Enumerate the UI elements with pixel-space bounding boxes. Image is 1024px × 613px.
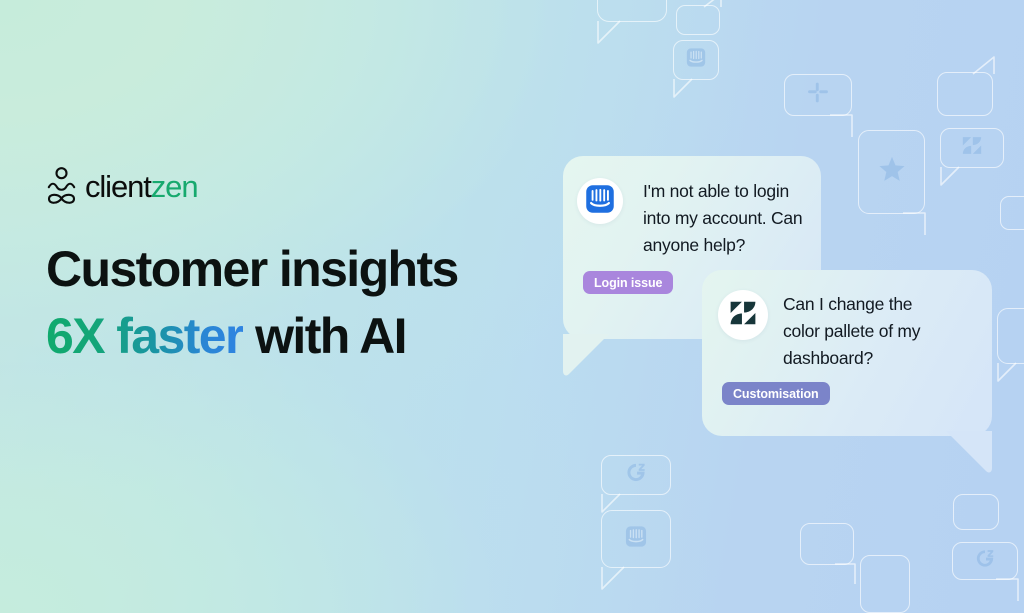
slack-icon [807, 82, 829, 109]
message-card-tail [563, 334, 621, 382]
bubble-tail [972, 56, 998, 76]
bubble-tail [902, 212, 930, 238]
background-bubble [1000, 196, 1024, 230]
background-bubble-intercom [673, 40, 719, 80]
bubble-tail [995, 578, 1023, 604]
background-bubble [937, 72, 993, 116]
intercom-icon [625, 526, 647, 553]
background-bubble-zendesk [940, 128, 1004, 168]
bubble-tail [940, 166, 966, 188]
bubble-tail [997, 362, 1023, 384]
zendesk-icon [729, 300, 757, 331]
intercom-icon [585, 184, 615, 219]
message-text-intercom: I'm not able to login into my account. C… [643, 178, 813, 258]
background-bubble-slack [784, 74, 852, 116]
hero-headline: Customer insights 6X faster with AI [46, 236, 606, 369]
meditation-figure-icon [47, 166, 76, 206]
message-card-tail [934, 431, 992, 481]
background-bubble-star [858, 130, 925, 214]
bubble-tail [597, 20, 631, 46]
background-bubble [860, 555, 910, 613]
background-bubble-intercom [601, 510, 671, 568]
bubble-tail [673, 78, 699, 100]
headline-line-2: 6X faster with AI [46, 303, 606, 370]
tag-customisation[interactable]: Customisation [722, 382, 830, 405]
background-bubble [800, 523, 854, 565]
headline-line-1: Customer insights [46, 236, 606, 303]
g2-icon [975, 549, 995, 574]
background-bubble [597, 0, 667, 22]
brand-wordmark-accent: zen [151, 169, 198, 204]
brand-wordmark-primary: client [85, 169, 151, 204]
message-card-zendesk: Can I change the color pallete of my das… [702, 270, 992, 436]
tag-login-issue[interactable]: Login issue [583, 271, 673, 294]
background-bubble-g2 [601, 455, 671, 495]
bubble-tail [601, 566, 631, 592]
brand-wordmark: clientzen [85, 171, 197, 202]
background-bubble [997, 308, 1024, 364]
background-bubble [953, 494, 999, 530]
bubble-tail [829, 114, 857, 140]
g2-icon [626, 462, 647, 488]
intercom-icon [686, 48, 706, 73]
hero-banner: clientzen Customer insights 6X faster wi… [0, 0, 1024, 613]
headline-accent-text: 6X faster [46, 308, 243, 364]
brand-logo[interactable]: clientzen [47, 166, 197, 206]
bubble-tail [834, 563, 860, 587]
avatar-intercom [577, 178, 623, 224]
star-icon [877, 155, 907, 189]
background-bubble [676, 5, 720, 35]
background-bubble-g2 [952, 542, 1018, 580]
message-text-zendesk: Can I change the color pallete of my das… [783, 291, 948, 371]
zendesk-icon [961, 136, 983, 161]
bubble-tail [703, 0, 725, 9]
headline-rest-text: with AI [243, 308, 406, 364]
avatar-zendesk [718, 290, 768, 340]
bubble-tail [601, 493, 627, 515]
